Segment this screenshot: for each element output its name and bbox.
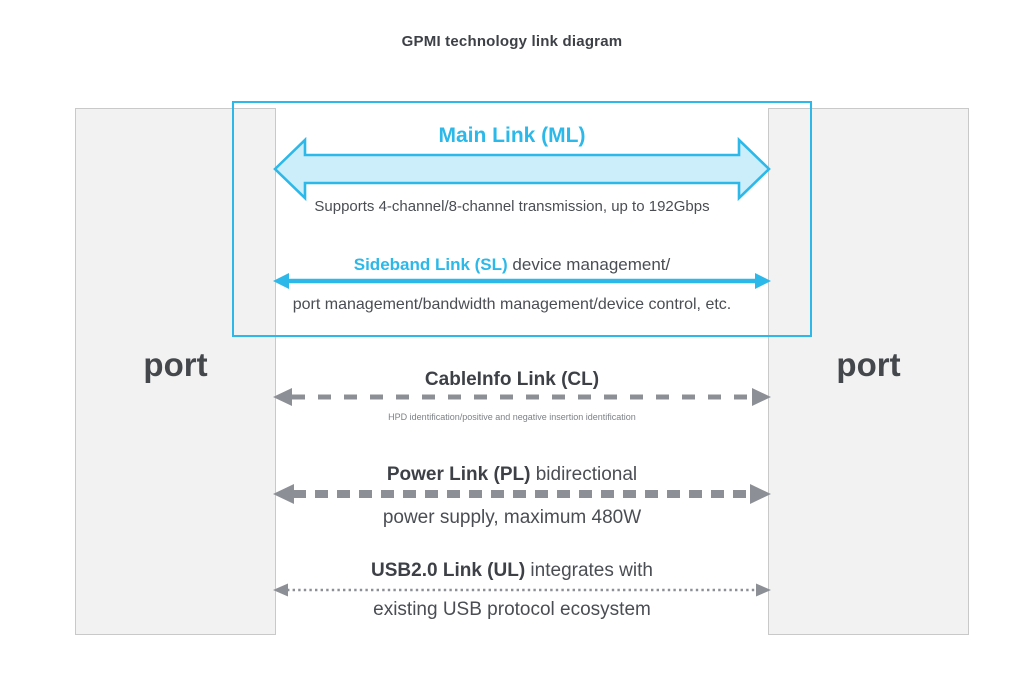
page-title: GPMI technology link diagram	[0, 33, 1024, 50]
usb-link-title-accent: USB2.0 Link (UL)	[371, 560, 525, 581]
cableinfo-link-arrow	[272, 387, 772, 407]
sideband-link-arrow	[272, 271, 772, 291]
usb-link-arrow	[272, 581, 772, 599]
port-label-right: port	[768, 346, 969, 384]
power-link-title-rest: bidirectional	[530, 464, 637, 485]
usb-link-title-rest: integrates with	[525, 560, 653, 581]
main-link-arrow	[272, 136, 772, 202]
port-label-left: port	[75, 346, 276, 384]
power-link-arrow	[272, 483, 772, 505]
power-link-title-accent: Power Link (PL)	[387, 464, 531, 485]
diagram-canvas: GPMI technology link diagram port port M…	[0, 0, 1024, 683]
